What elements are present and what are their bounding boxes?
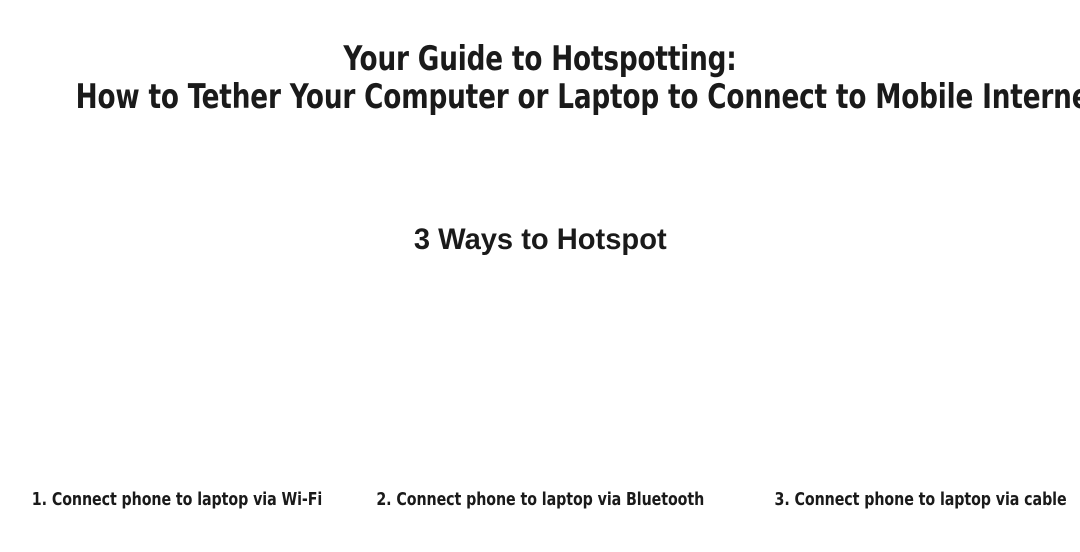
step-caption-3: 3. Connect phone to laptop via cable [726, 486, 1080, 514]
illustration-step-2 [360, 285, 720, 475]
step-caption-1: 1. Connect phone to laptop via Wi-Fi [0, 486, 354, 514]
step-caption-2: 2. Connect phone to laptop via Bluetooth [354, 486, 727, 514]
page-title-line-2: How to Tether Your Computer or Laptop to… [76, 78, 1005, 116]
step-caption-3-text: 3. Connect phone to laptop via cable [775, 488, 1067, 512]
step-caption-2-text: 2. Connect phone to laptop via Bluetooth [376, 488, 704, 512]
page-title-line-1: Your Guide to Hotspotting: [76, 40, 1005, 78]
step-caption-1-text: 1. Connect phone to laptop via Wi-Fi [32, 488, 322, 512]
step-caption-row: 1. Connect phone to laptop via Wi-Fi 2. … [0, 486, 1080, 514]
page-title: Your Guide to Hotspotting: How to Tether… [0, 40, 1080, 116]
section-heading: 3 Ways to Hotspot [0, 222, 1080, 258]
illustration-strip [0, 285, 1080, 475]
section-heading-text: 3 Ways to Hotspot [414, 222, 667, 258]
illustration-step-1 [0, 285, 360, 475]
infographic-page: Your Guide to Hotspotting: How to Tether… [0, 0, 1080, 552]
illustration-step-3 [720, 285, 1080, 475]
